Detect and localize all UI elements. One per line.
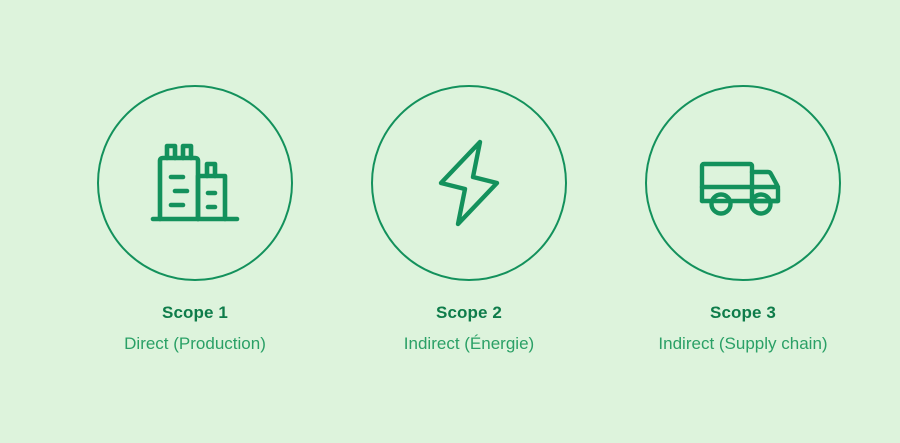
scope-3-labels: Scope 3 Indirect (Supply chain)	[613, 303, 873, 354]
scope-card-3: Scope 3 Indirect (Supply chain)	[628, 85, 858, 354]
scope-card-2: Scope 2 Indirect (Énergie)	[354, 85, 584, 354]
scope-card-1: Scope 1 Direct (Production)	[80, 85, 310, 354]
scope-1-icon-circle	[97, 85, 293, 281]
scope-2-labels: Scope 2 Indirect (Énergie)	[339, 303, 599, 354]
scope-2-icon-circle	[371, 85, 567, 281]
lightning-bolt-icon	[421, 135, 517, 231]
scope-1-title: Scope 1	[162, 303, 228, 323]
scope-1-labels: Scope 1 Direct (Production)	[65, 303, 325, 354]
scope-3-subtitle: Indirect (Supply chain)	[658, 334, 827, 354]
factory-icon	[147, 135, 243, 231]
scope-2-subtitle: Indirect (Énergie)	[404, 334, 534, 354]
scope-3-icon-circle	[645, 85, 841, 281]
ghg-scopes-infographic: Scope 1 Direct (Production) Scope 2 Indi…	[0, 0, 900, 443]
scope-2-title: Scope 2	[436, 303, 502, 323]
delivery-truck-icon	[695, 135, 791, 231]
scope-3-title: Scope 3	[710, 303, 776, 323]
scopes-row: Scope 1 Direct (Production) Scope 2 Indi…	[0, 0, 900, 443]
scope-1-subtitle: Direct (Production)	[124, 334, 266, 354]
